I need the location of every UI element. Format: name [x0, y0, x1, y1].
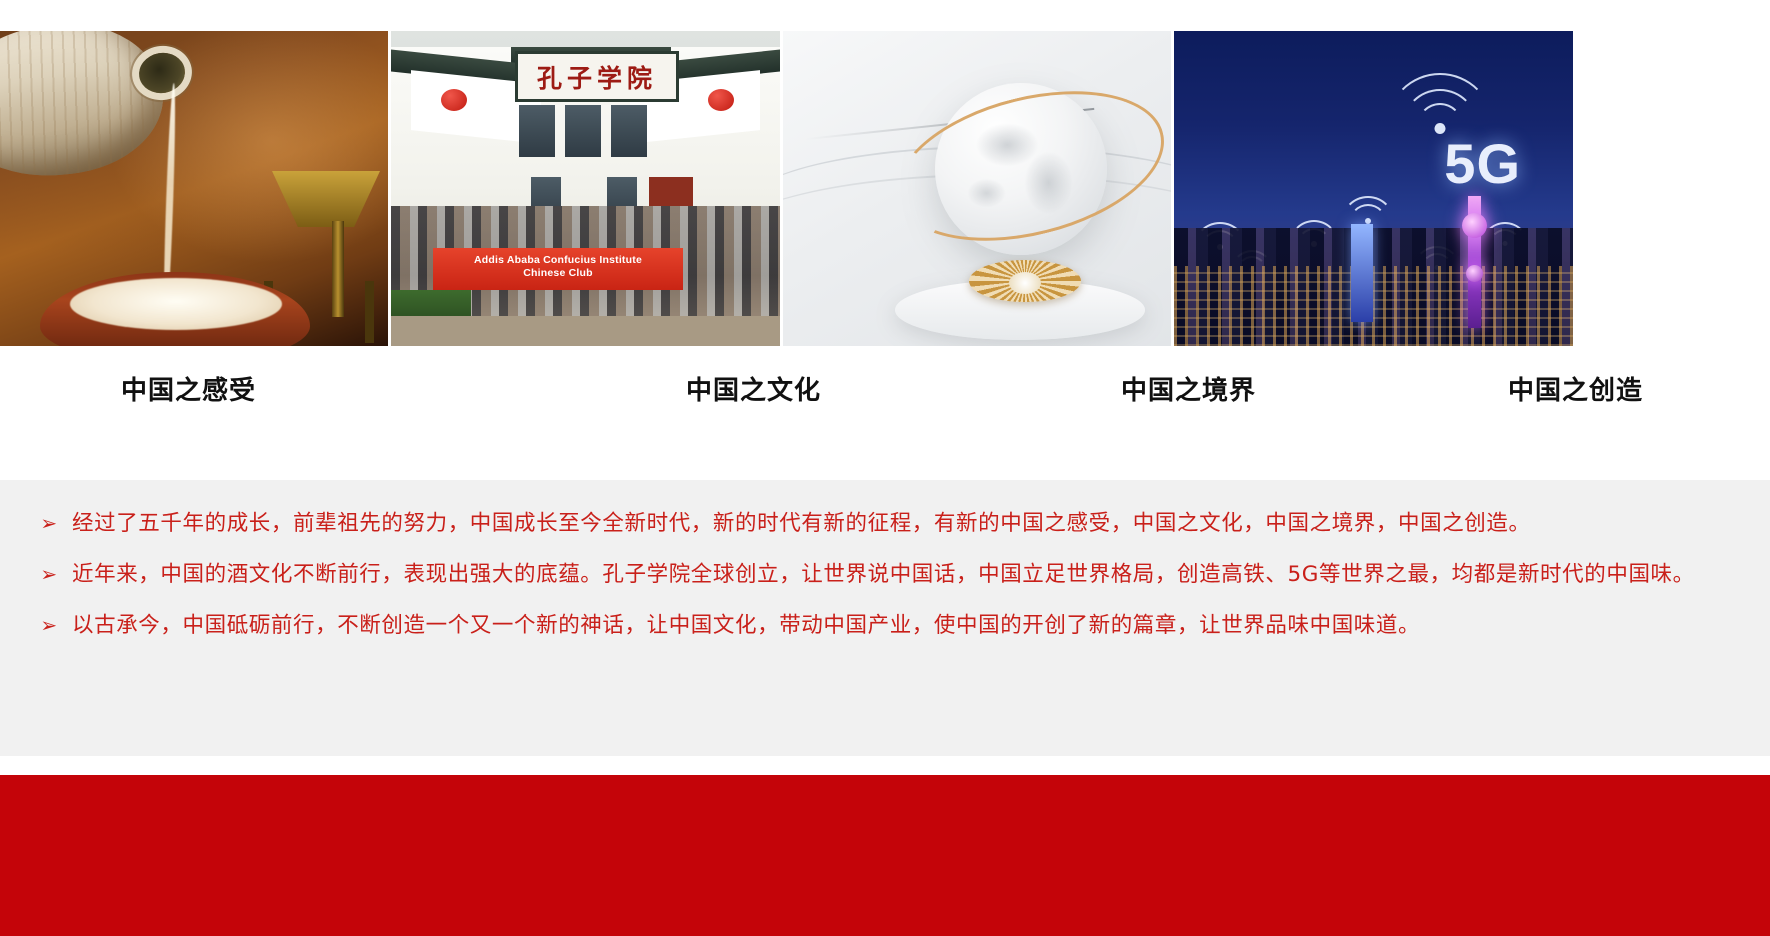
pearl-sphere-upper [1462, 213, 1487, 238]
red-lantern-icon-right [708, 89, 734, 111]
jinmao-tower [1351, 224, 1373, 322]
caption-china-creation: 中国之创造 [1387, 360, 1770, 422]
window [565, 105, 601, 157]
city-lights [1174, 266, 1573, 346]
photo-5g-skyline: 5G [1174, 31, 1573, 346]
body-text-panel: ➢ 经过了五千年的成长，前辈祖先的努力，中国成长至今全新时代，新的时代有新的征程… [0, 480, 1770, 756]
window [611, 105, 647, 157]
wifi-icon-large [1385, 73, 1495, 137]
arrow-bullet-icon: ➢ [26, 549, 72, 600]
arrow-bullet-icon: ➢ [26, 600, 72, 651]
gear-hub [1009, 272, 1041, 294]
banner-line-2: Chinese Club [523, 267, 593, 279]
institute-sign: 孔子学院 [515, 51, 679, 102]
red-banner: Addis Ababa Confucius Institute Chinese … [433, 248, 683, 290]
red-lantern-icon-left [441, 89, 467, 111]
bottom-red-bar [0, 775, 1770, 936]
arrow-bullet-icon: ➢ [26, 498, 72, 549]
pearl-sphere-lower [1466, 265, 1483, 282]
bullet-text-2: 近年来，中国的酒文化不断前行，表现出强大的底蕴。孔子学院全球创立，让世界说中国话… [72, 549, 1744, 600]
photo-confucius-institute: 孔子学院 Addis Ababa Confucius Institute Chi… [391, 31, 780, 346]
bullet-item-2: ➢ 近年来，中国的酒文化不断前行，表现出强大的底蕴。孔子学院全球创立，让世界说中… [26, 549, 1744, 600]
photo-globe-gear [783, 31, 1171, 346]
five-g-label: 5G [1444, 131, 1521, 196]
caption-row: 中国之感受 中国之文化 中国之境界 中国之创造 [0, 360, 1770, 422]
photo-wine-pouring [0, 31, 388, 346]
wine-foam [70, 278, 282, 330]
caption-china-culture: 中国之文化 [565, 360, 1000, 422]
caption-china-realm: 中国之境界 [1000, 360, 1387, 422]
bullet-text-3: 以古承今，中国砥砺前行，不断创造一个又一个新的神话，让中国文化，带动中国产业，使… [72, 600, 1744, 651]
window [519, 105, 555, 157]
image-gallery-strip: 孔子学院 Addis Ababa Confucius Institute Chi… [0, 31, 1770, 346]
bullet-item-1: ➢ 经过了五千年的成长，前辈祖先的努力，中国成长至今全新时代，新的时代有新的征程… [26, 498, 1744, 549]
caption-china-feeling: 中国之感受 [0, 360, 565, 422]
banner-line-1: Addis Ababa Confucius Institute [474, 254, 642, 266]
bullet-text-1: 经过了五千年的成长，前辈祖先的努力，中国成长至今全新时代，新的时代有新的征程，有… [72, 498, 1744, 549]
bullet-item-3: ➢ 以古承今，中国砥砺前行，不断创造一个又一个新的神话，让中国文化，带动中国产业… [26, 600, 1744, 651]
ground [391, 316, 780, 346]
